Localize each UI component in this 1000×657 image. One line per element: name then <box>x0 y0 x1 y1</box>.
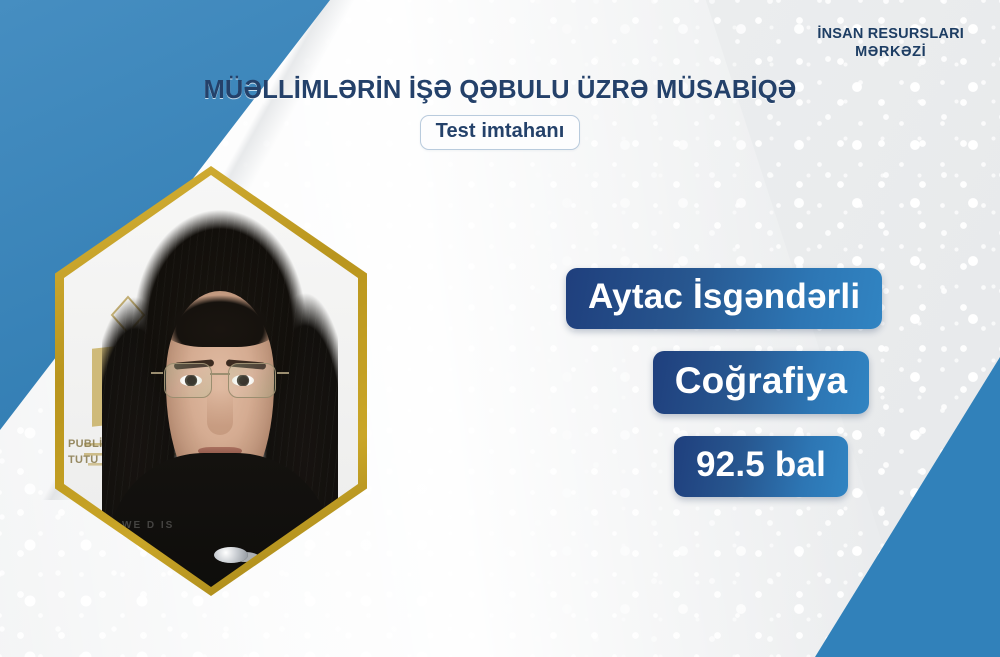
glasses-temple-right <box>277 372 289 374</box>
score-badge: 92.5 bal <box>674 436 848 497</box>
brand-logo-line2: MƏRKƏZİ <box>817 44 964 62</box>
subject-necklace <box>214 547 248 563</box>
page-title: MÜƏLLİMLƏRİN İŞƏ QƏBULU ÜZRƏ MÜSABİQƏ <box>0 76 1000 105</box>
portrait-clip: PUBLİKASIN TUTU İNSAN M <box>64 175 358 587</box>
glasses-temple-left <box>151 372 163 374</box>
result-card: İNSAN RESURSLARI MƏRKƏZİ MÜƏLLİMLƏRİN İŞ… <box>0 0 1000 657</box>
subject-nose <box>207 389 233 435</box>
portrait-frame: PUBLİKASIN TUTU İNSAN M <box>55 166 367 596</box>
subject-fringe <box>158 279 282 347</box>
result-badges: Aytac İsgəndərli Coğrafiya 92.5 bal <box>566 268 956 497</box>
candidate-name-badge: Aytac İsgəndərli <box>566 268 882 329</box>
subject-badge: Coğrafiya <box>653 351 869 414</box>
brand-logo-line1: İNSAN RESURSLARI <box>817 26 964 44</box>
brand-logo: İNSAN RESURSLARI MƏRKƏZİ <box>817 26 964 61</box>
header-block: MÜƏLLİMLƏRİN İŞƏ QƏBULU ÜZRƏ MÜSABİQƏ Te… <box>0 76 1000 150</box>
glasses-lens-left <box>164 363 212 398</box>
portrait-photo: PUBLİKASIN TUTU İNSAN M <box>64 175 358 587</box>
glasses-bridge <box>210 373 230 375</box>
shirt-print-text: WE D IS <box>122 520 174 531</box>
glasses-lens-right <box>228 363 276 398</box>
subtitle-badge: Test imtahanı <box>420 115 581 150</box>
